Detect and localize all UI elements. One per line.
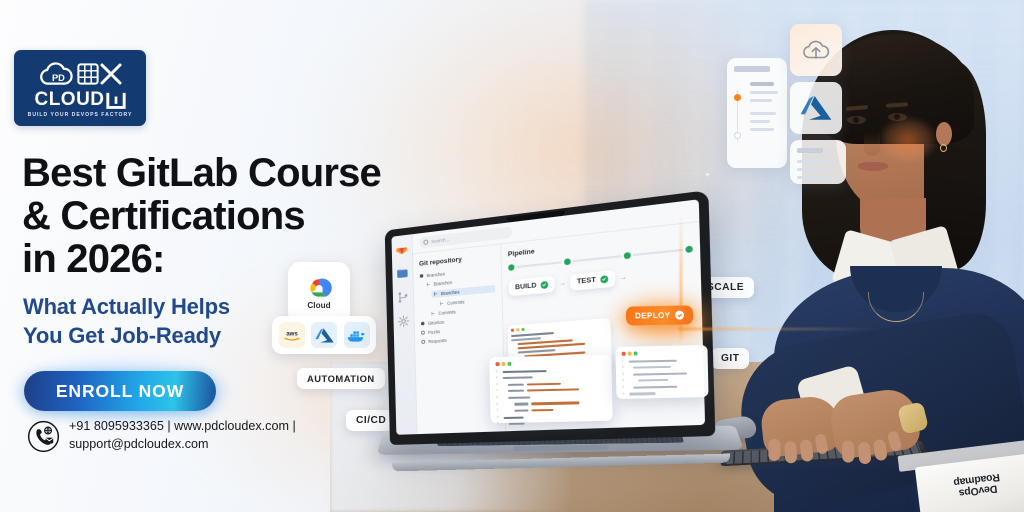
code-row: 3 (496, 381, 606, 387)
floating-code-window-primary: 1 2 3 4 5 6 7 8 9 (489, 355, 612, 424)
check-icon (600, 275, 608, 283)
floating-code-window-secondary: 1 2 3 4 5 6 (615, 345, 708, 399)
branch-icon (431, 311, 436, 316)
grid-icon (77, 63, 99, 85)
subheadline-line-2: You Get Job-Ready (23, 321, 323, 350)
person-pupil-left (853, 117, 859, 123)
cta-wrapper: ENROLL NOW (24, 371, 216, 411)
doc-header-line (797, 148, 823, 153)
person-hand-left (759, 394, 842, 458)
code-token (633, 386, 677, 389)
node-icon (421, 321, 425, 326)
line-number: 5 (622, 386, 626, 390)
brand-wordmark: CLOUD (34, 90, 125, 109)
check-icon (541, 281, 549, 289)
doc-header-line (734, 66, 770, 72)
enroll-now-button[interactable]: ENROLL NOW (24, 371, 216, 411)
window-traffic-lights (495, 360, 605, 366)
headline-line-3: in 2026: (22, 238, 492, 281)
person-earring (940, 144, 947, 152)
contact-info: +91 8095933365 | www.pdcloudex.com | sup… (27, 418, 296, 454)
line-number: 6 (496, 403, 500, 407)
pipeline-dot (685, 246, 693, 254)
doc-line (750, 112, 776, 115)
line-number: 4 (622, 379, 626, 383)
code-token (508, 383, 524, 386)
notebook-title: DevOpsRoadmap (930, 468, 1024, 502)
brand-logo-marks: PD (38, 59, 123, 89)
line-number: 8 (497, 416, 501, 420)
brand-name: CLOUD (34, 90, 104, 109)
finger (858, 442, 872, 465)
code-token (514, 403, 528, 405)
line-number: 1 (622, 359, 626, 363)
laptop-trackpad (513, 445, 608, 452)
branch-icon (426, 282, 431, 287)
branch-icon (440, 301, 445, 306)
doc-line (750, 91, 778, 94)
brand-tagline: BUILD YOUR DEVOPS FACTORY (28, 112, 133, 118)
doc-line (797, 160, 836, 163)
tree-item-label: Branches (441, 289, 460, 296)
headline-line-1: Best GitLab Course (22, 152, 492, 195)
code-token (638, 379, 668, 382)
page-subtitle: What Actually Helps You Get Job-Ready (23, 292, 323, 350)
tree-item-label: Gitortion (428, 319, 444, 325)
code-row: 7 (496, 407, 606, 413)
pipeline-dot (564, 258, 571, 265)
deploy-badge-wrapper: DEPLOY (626, 306, 693, 325)
code-row: 1 (496, 367, 606, 373)
doc-line (750, 128, 774, 131)
pipeline-dot (623, 252, 630, 259)
code-row: 5 (496, 394, 606, 400)
code-row: 6 (622, 391, 702, 397)
doc-line (750, 99, 772, 102)
brand-logo[interactable]: PD CLOUD (14, 50, 146, 126)
code-line (511, 337, 541, 341)
bracket-icon (106, 92, 126, 109)
arrow-icon: → (559, 280, 566, 287)
pipeline-connector (633, 249, 683, 255)
pipeline-connector (573, 256, 621, 262)
finger (887, 430, 903, 452)
headline-line-2: & Certifications (22, 195, 492, 238)
x-icon (99, 62, 123, 86)
gear-icon[interactable] (397, 314, 410, 328)
docker-logo (344, 322, 370, 348)
doc-line (797, 176, 833, 179)
code-token (633, 366, 671, 369)
person-ear (936, 122, 952, 146)
pipeline-stage-test[interactable]: TEST (570, 270, 615, 291)
doc-line (750, 82, 774, 86)
docker-icon (347, 328, 367, 343)
azure-logo-card (790, 82, 842, 134)
pipeline-connector (517, 262, 563, 268)
code-token (509, 423, 525, 426)
code-token (531, 409, 553, 412)
line-number: 3 (496, 383, 500, 387)
pipeline-stage-build[interactable]: BUILD (509, 276, 556, 296)
code-line (518, 349, 556, 353)
doc-line (750, 120, 770, 123)
tree-item-selected[interactable]: Branches (431, 285, 495, 298)
contact-details: +91 8095933365 | www.pdcloudex.com | sup… (69, 418, 296, 454)
code-token (633, 372, 687, 375)
code-token (508, 396, 530, 399)
line-number: 5 (496, 396, 500, 400)
code-token (531, 402, 579, 405)
line-number: 2 (622, 366, 626, 370)
pd-text: PD (51, 73, 64, 83)
line-number: 3 (622, 373, 626, 377)
code-row: 4 (622, 378, 702, 384)
node-icon (421, 330, 425, 335)
arrow-icon: → (620, 274, 627, 281)
line-number: 6 (622, 392, 626, 396)
sparkle (705, 172, 710, 177)
code-row: 8 (497, 414, 607, 420)
document-card-small (790, 140, 846, 184)
finger (799, 439, 813, 462)
cloud-upload-icon (800, 37, 832, 63)
pd-cloud-icon: PD (38, 60, 76, 87)
node-icon (421, 340, 425, 345)
code-row: 1 (622, 358, 702, 364)
document-card-main (727, 58, 787, 168)
marketing-banner: DevOpsRoadmap (0, 0, 1024, 512)
code-row: 5 (622, 384, 702, 390)
code-token (508, 390, 524, 393)
person-nose (864, 132, 880, 156)
cloud-upload-card (790, 24, 842, 76)
pipeline-stage-build-label: BUILD (515, 282, 537, 291)
code-line (511, 332, 554, 337)
code-token (514, 410, 528, 412)
line-number: 7 (496, 409, 500, 413)
line-number: 4 (496, 389, 500, 393)
branch-icon[interactable] (397, 290, 410, 304)
person-cheek-highlight (880, 118, 936, 162)
line-number: 2 (496, 376, 500, 380)
tree-item-label: Commits (447, 299, 465, 306)
tree-item-label: Pushs (428, 329, 440, 335)
page-title: Best GitLab Course & Certifications in 2… (22, 152, 492, 282)
window-traffic-lights (511, 321, 607, 332)
code-row: 2 (622, 364, 702, 370)
subheadline-line-1: What Actually Helps (23, 292, 323, 321)
phone-web-mail-icon (27, 420, 60, 453)
code-token (629, 359, 677, 362)
tree-item-label: Commits (438, 309, 455, 316)
check-icon (675, 311, 684, 320)
finger (768, 439, 780, 461)
finger (814, 433, 828, 455)
doc-line (797, 168, 828, 171)
code-token (527, 389, 579, 392)
line-number: 1 (496, 370, 500, 374)
code-token (527, 382, 561, 385)
branch-icon (433, 292, 438, 297)
doc-step-idle-dot (734, 132, 741, 139)
tag-automation: AUTOMATION (297, 368, 385, 389)
pipeline-stage-deploy[interactable]: DEPLOY (626, 305, 694, 325)
code-row: 6 (496, 400, 606, 406)
code-token (504, 416, 524, 419)
finger (842, 440, 854, 462)
tree-item[interactable]: Requests (421, 334, 496, 345)
azure-icon (800, 94, 832, 122)
code-row: 2 (496, 374, 606, 380)
pipeline-stage-deploy-label: DEPLOY (635, 311, 671, 321)
tree-item-label: Requests (428, 338, 446, 344)
pipeline-stage-test-label: TEST (577, 276, 596, 285)
finger (784, 441, 797, 464)
line-number: 9 (497, 422, 501, 426)
laptop-base-front (392, 454, 730, 472)
code-token (629, 393, 655, 396)
code-token (503, 370, 547, 373)
window-traffic-lights (622, 350, 702, 355)
doc-step-active-dot (734, 94, 741, 101)
code-row: 4 (496, 387, 606, 393)
code-row: 3 (622, 371, 702, 377)
code-token (503, 376, 533, 379)
person-lips (858, 162, 888, 171)
pipeline-dot (508, 264, 514, 271)
